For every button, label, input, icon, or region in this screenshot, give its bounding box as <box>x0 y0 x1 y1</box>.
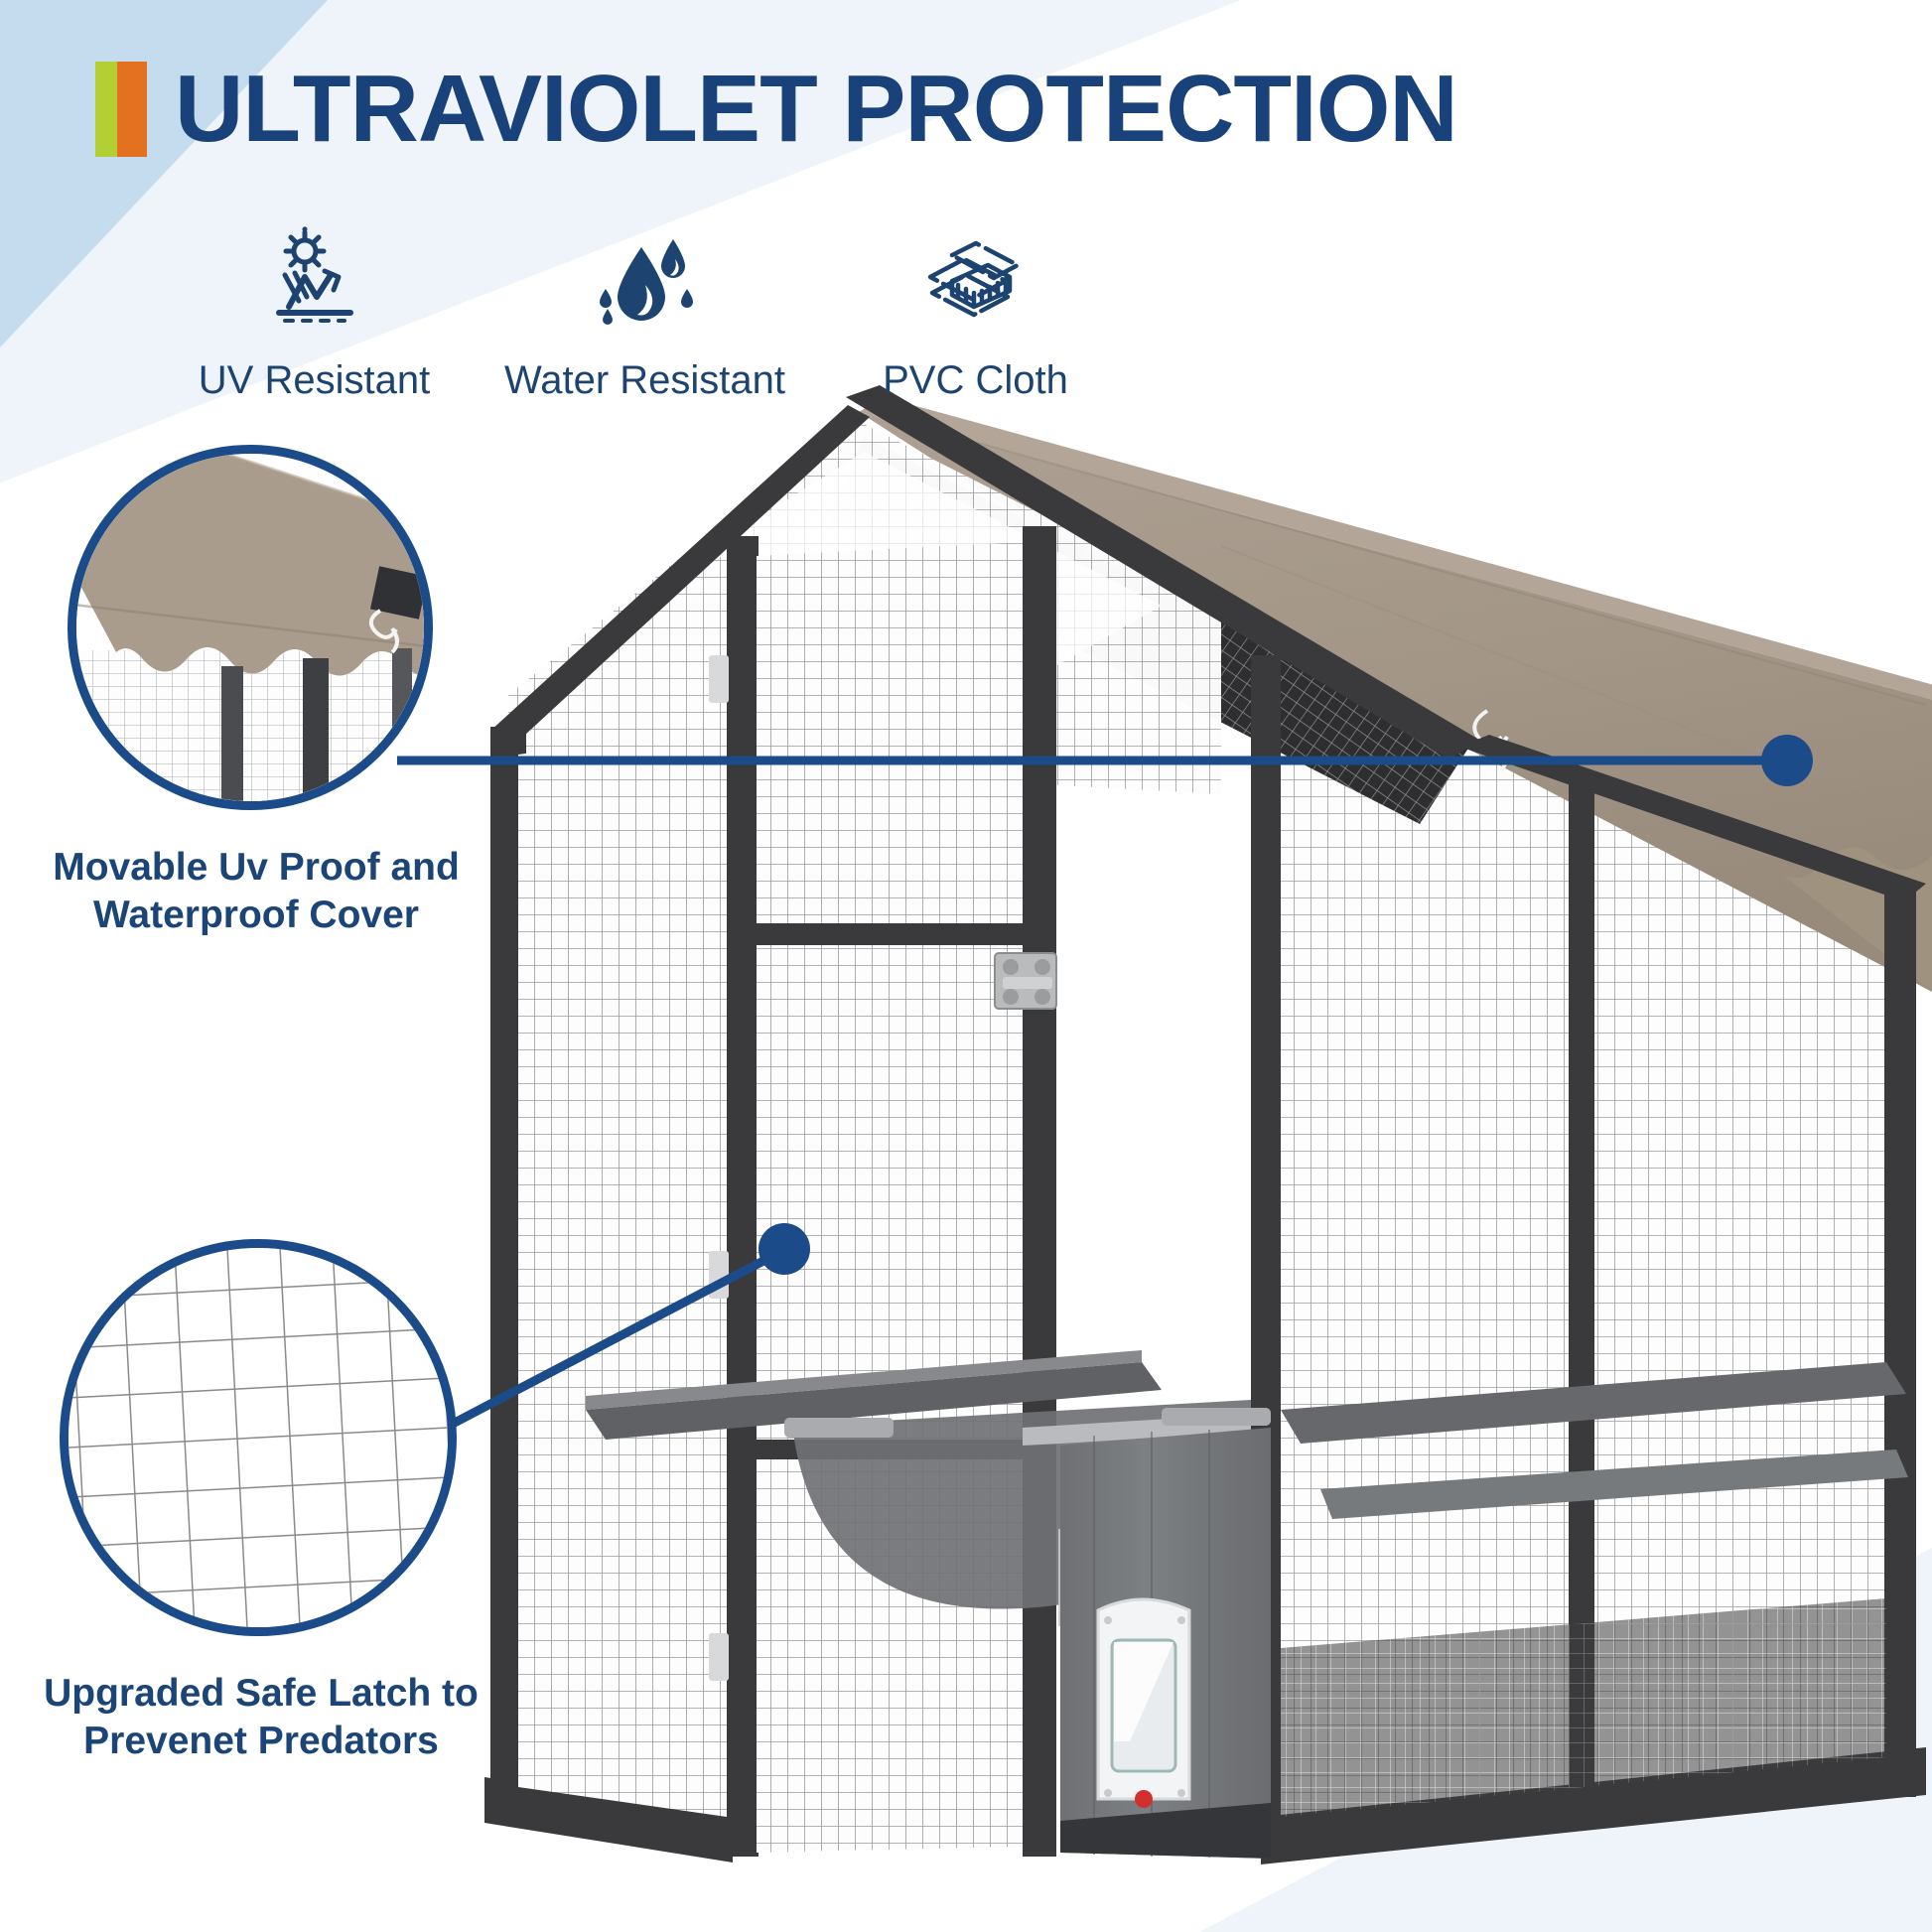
feature-water-resistant: Water Resistant <box>480 223 810 403</box>
callout-circle-mesh <box>60 1239 457 1636</box>
enclosure-door <box>757 542 1025 1853</box>
callout-caption-cover: Movable Uv Proof and Waterproof Cover <box>38 844 475 938</box>
callout-movable-cover: Movable Uv Proof and Waterproof Cover <box>68 445 475 938</box>
callout-safe-latch-mesh: Upgraded Safe Latch to Prevenet Predator… <box>60 1239 494 1764</box>
callout-caption-cover-line2: Waterproof Cover <box>93 894 419 936</box>
feature-uv-resistant: UV Resistant <box>149 223 480 403</box>
title-row: ULTRAVIOLET PROTECTION <box>95 62 1457 157</box>
pvc-cloth-layers-icon <box>918 223 1034 335</box>
feature-label-pvc: PVC Cloth <box>883 358 1068 403</box>
feature-label-water: Water Resistant <box>504 358 785 403</box>
feature-row: UV Resistant Water Resistant <box>149 223 1142 403</box>
callout-caption-mesh-line2: Prevenet Predators <box>83 1720 439 1762</box>
accent-bar-orange <box>117 62 147 157</box>
accent-bars <box>95 62 147 157</box>
uv-sun-resistant-icon <box>259 223 370 335</box>
product-image-cat-enclosure <box>467 357 1932 1906</box>
callout-caption-mesh-line1: Upgraded Safe Latch to <box>44 1672 479 1715</box>
callout-caption-cover-line1: Movable Uv Proof and <box>53 846 460 889</box>
callout-circle-cover <box>68 445 433 810</box>
door-latch-hardware <box>995 953 1056 1009</box>
water-droplet-icon <box>590 223 701 335</box>
feature-pvc-cloth: PVC Cloth <box>810 223 1141 403</box>
callout-caption-mesh: Upgraded Safe Latch to Prevenet Predator… <box>28 1670 494 1764</box>
cat-flap-door <box>1098 1599 1189 1808</box>
cat-flap-lock-indicator <box>1135 1790 1153 1808</box>
accent-bar-green <box>95 62 117 157</box>
feature-label-uv: UV Resistant <box>199 358 430 403</box>
left-mesh-wall <box>518 727 727 1817</box>
page-title: ULTRAVIOLET PROTECTION <box>175 62 1457 157</box>
